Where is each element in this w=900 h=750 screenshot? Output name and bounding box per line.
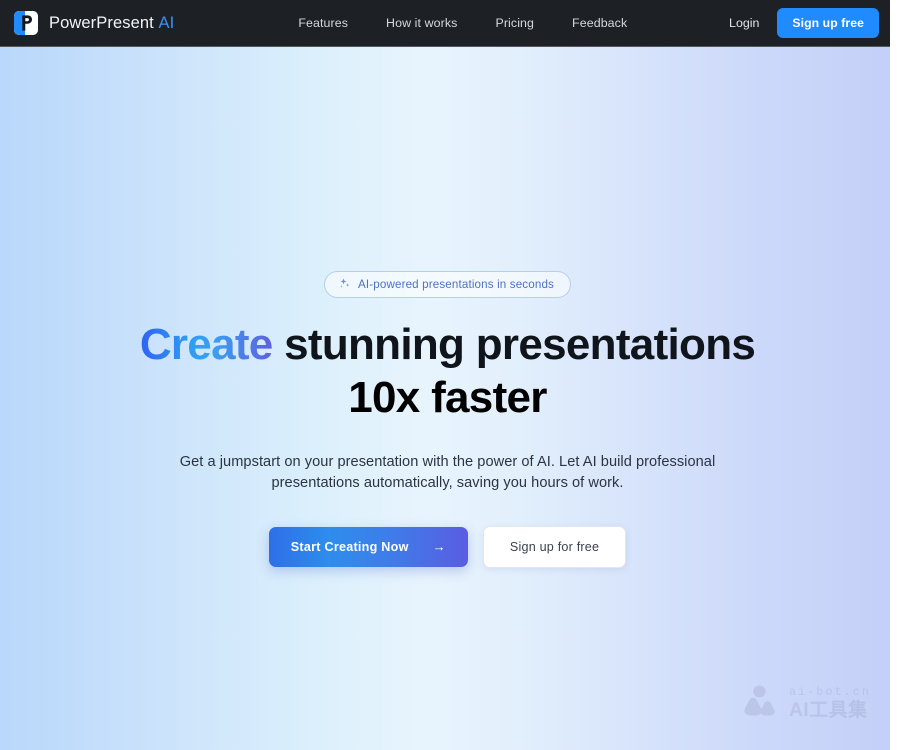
hero-cta-row: Start Creating Now → Sign up for free	[269, 526, 626, 568]
hero-headline-line2: 10x faster	[348, 376, 546, 421]
start-creating-now-label: Start Creating Now	[291, 540, 409, 554]
hero-headline-line1: Create stunning presentations	[140, 323, 755, 368]
primary-nav: Features How it works Pricing Feedback	[298, 16, 627, 30]
hero-content: AI-powered presentations in seconds Crea…	[0, 271, 895, 568]
sparkles-icon	[339, 278, 351, 292]
hero-headline-accent: Create	[140, 320, 273, 369]
watermark-text: ai-bot.cn AI工具集	[789, 687, 871, 721]
header-actions: Login Sign up free	[729, 8, 879, 38]
scroll-gutter	[890, 0, 895, 750]
watermark: ai-bot.cn AI工具集	[740, 684, 871, 723]
login-link[interactable]: Login	[729, 16, 759, 30]
hero-badge: AI-powered presentations in seconds	[324, 271, 571, 298]
brand-name-text: PowerPresent	[49, 14, 154, 32]
hero-subheading: Get a jumpstart on your presentation wit…	[143, 452, 753, 495]
brand-suffix-text: AI	[159, 14, 175, 32]
watermark-domain: ai-bot.cn	[789, 687, 871, 699]
ai-bot-logo-icon	[740, 684, 780, 723]
start-creating-now-button[interactable]: Start Creating Now →	[269, 527, 468, 567]
watermark-name: AI工具集	[789, 701, 871, 720]
brand-logo[interactable]: PowerPresent AI	[14, 11, 174, 35]
hero-headline-rest: stunning presentations	[273, 320, 756, 369]
page-root: PowerPresent AI Features How it works Pr…	[0, 0, 895, 750]
sign-up-for-free-button[interactable]: Sign up for free	[483, 526, 626, 568]
hero-section: AI-powered presentations in seconds Crea…	[0, 47, 895, 750]
nav-link-feedback[interactable]: Feedback	[572, 16, 627, 30]
hero-badge-label: AI-powered presentations in seconds	[358, 278, 554, 291]
nav-link-pricing[interactable]: Pricing	[495, 16, 534, 30]
nav-link-how-it-works[interactable]: How it works	[386, 16, 457, 30]
site-header: PowerPresent AI Features How it works Pr…	[0, 0, 895, 47]
brand-name: PowerPresent AI	[49, 14, 174, 33]
arrow-right-icon: →	[433, 540, 446, 553]
nav-link-features[interactable]: Features	[298, 16, 348, 30]
hero-headline-line2-text: 10x faster	[348, 373, 546, 422]
signup-free-button[interactable]: Sign up free	[777, 8, 879, 38]
powerpresent-logo-icon	[14, 11, 38, 35]
